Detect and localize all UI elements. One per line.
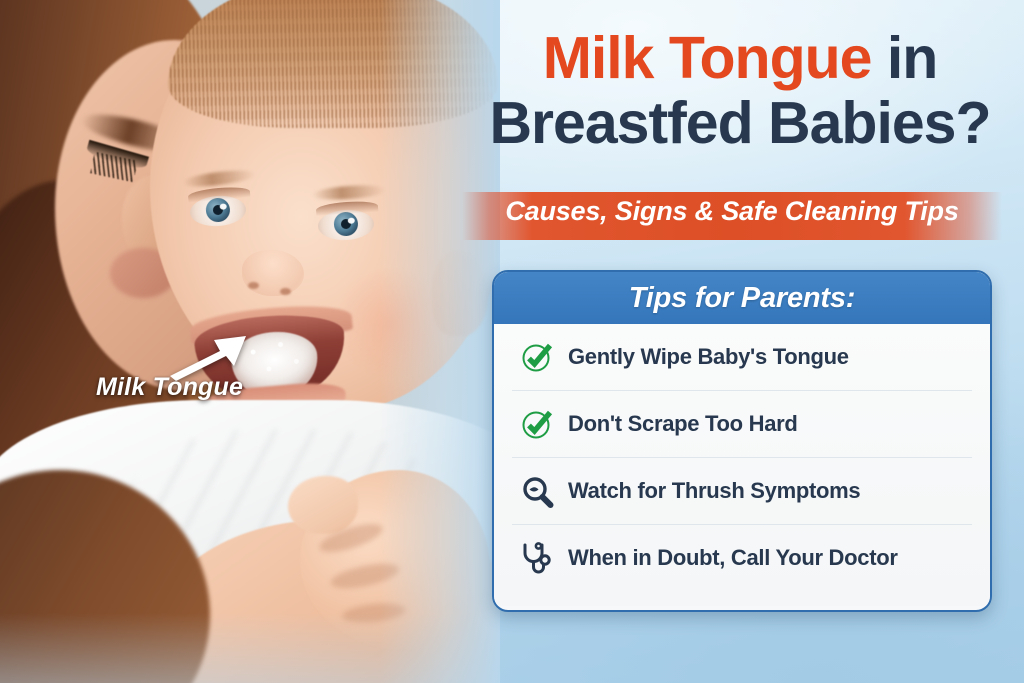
baby-nostril-left [248, 282, 259, 289]
baby-thumb [288, 476, 358, 534]
subtitle-text: Causes, Signs & Safe Cleaning Tips [462, 196, 1002, 227]
tip-label: When in Doubt, Call Your Doctor [568, 545, 898, 571]
tips-card-header: Tips for Parents: [494, 272, 990, 324]
infographic-canvas: Milk Tongue Milk Tongue in Breastfed Bab… [0, 0, 1024, 683]
tips-list: Gently Wipe Baby's Tongue Don't Scrape T… [494, 324, 990, 606]
tips-for-parents-card: Tips for Parents: Gently Wipe Baby's Ton… [492, 270, 992, 612]
photo-bottom-fade [0, 613, 500, 683]
baby-iris-right [333, 212, 358, 237]
check-circle-icon [520, 407, 554, 441]
stethoscope-icon [520, 541, 554, 575]
baby-nostril-right [280, 288, 291, 295]
tips-card-title: Tips for Parents: [629, 282, 856, 315]
title-line-2: Breastfed Babies? [470, 95, 1010, 152]
list-item[interactable]: Watch for Thrush Symptoms [512, 458, 972, 525]
list-item[interactable]: Gently Wipe Baby's Tongue [512, 324, 972, 391]
title-highlight: Milk Tongue [543, 25, 872, 91]
tip-label: Gently Wipe Baby's Tongue [568, 344, 849, 370]
page-title: Milk Tongue in Breastfed Babies? [470, 30, 1010, 151]
milk-tongue-callout-label: Milk Tongue [96, 373, 243, 402]
title-line-1-rest: in [871, 25, 937, 91]
baby-iris-left [205, 198, 231, 224]
tip-label: Don't Scrape Too Hard [568, 411, 798, 437]
title-line-1: Milk Tongue in [470, 30, 1010, 87]
magnifier-icon [520, 474, 554, 508]
tip-label: Watch for Thrush Symptoms [568, 478, 860, 504]
list-item[interactable]: When in Doubt, Call Your Doctor [512, 525, 972, 591]
list-item[interactable]: Don't Scrape Too Hard [512, 391, 972, 458]
hero-photo [0, 0, 500, 683]
baby-nose [242, 250, 304, 296]
check-circle-icon [520, 340, 554, 374]
